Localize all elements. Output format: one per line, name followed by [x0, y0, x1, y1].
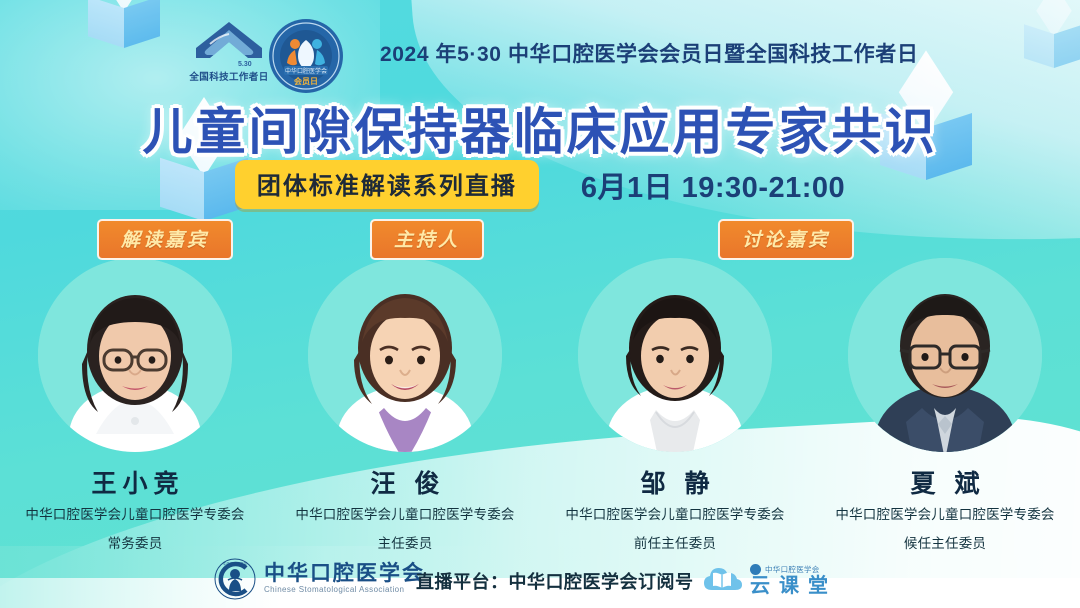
speaker-org: 中华口腔医学会儿童口腔医学专委会: [835, 508, 1054, 522]
speaker-title: 前任主任委员: [634, 532, 716, 552]
speaker-list: 王小竞 中华口腔医学会儿童口腔医学专委会 常务委员: [0, 258, 1080, 552]
speaker-card: 汪 俊 中华口腔医学会儿童口腔医学专委会 主任委员: [270, 258, 540, 552]
series-badge: 团体标准解读系列直播: [235, 160, 539, 209]
svg-text:中华口腔医学会: 中华口腔医学会: [223, 561, 247, 566]
speaker-org: 中华口腔医学会儿童口腔医学专委会: [25, 508, 244, 522]
footer: 中华口腔医学会 中华口腔医学会 Chinese Stomatological A…: [0, 552, 1080, 608]
speaker-title: 主任委员: [378, 532, 433, 552]
role-badge-discussant: 讨论嘉宾: [718, 219, 854, 260]
live-time: 6月1日 19:30-21:00: [581, 164, 845, 206]
speaker-name: 邹 静: [635, 464, 716, 500]
role-badge-host: 主持人: [370, 219, 484, 260]
yun-logo-text: 中华口腔医学会 云课堂: [750, 564, 837, 597]
event-header-title: 2024 年5·30 中华口腔医学会会员日暨全国科技工作者日: [380, 38, 918, 68]
role-badge-group: 解读嘉宾 主持人 讨论嘉宾: [0, 219, 1080, 253]
avatar: [38, 258, 232, 452]
speaker-card: 夏 斌 中华口腔医学会儿童口腔医学专委会 候任主任委员: [810, 258, 1080, 552]
speaker-org: 中华口腔医学会儿童口腔医学专委会: [565, 508, 784, 522]
speaker-name: 夏 斌: [905, 464, 986, 500]
svg-text:全国科技工作者日: 全国科技工作者日: [188, 71, 268, 83]
subtitle-row: 团体标准解读系列直播 6月1日 19:30-21:00: [0, 160, 1080, 209]
csa-logo-text: 中华口腔医学会 Chinese Stomatological Associati…: [264, 563, 425, 595]
speaker-title: 候任主任委员: [904, 532, 986, 552]
csa-emblem-icon: 中华口腔医学会: [214, 558, 256, 600]
page-title: 儿童间隙保持器临床应用专家共识: [0, 92, 1080, 164]
csa-logo: 中华口腔医学会 中华口腔医学会 Chinese Stomatological A…: [214, 558, 425, 600]
live-platform-text: 直播平台：中华口腔医学会订阅号: [416, 568, 694, 594]
csa-name-cn: 中华口腔医学会: [264, 563, 425, 585]
svg-text:会员日: 会员日: [294, 76, 318, 86]
speaker-title: 常务委员: [108, 532, 163, 552]
avatar: [848, 258, 1042, 452]
cloud-book-icon: [700, 558, 744, 602]
csa-name-en: Chinese Stomatological Association: [264, 585, 425, 595]
promo-poster: 5.30 全国科技工作者日 中华口腔医学会 会员日 2024 年5·30 中华口…: [0, 0, 1080, 608]
speaker-org: 中华口腔医学会儿童口腔医学专委会: [295, 508, 514, 522]
yun-classroom-logo: 中华口腔医学会 云课堂: [700, 558, 837, 602]
role-badge-interpreter: 解读嘉宾: [97, 219, 233, 260]
yun-badge-row: 中华口腔医学会: [750, 564, 837, 575]
header: 5.30 全国科技工作者日 中华口腔医学会 会员日 2024 年5·30 中华口…: [0, 8, 1080, 84]
csa-small-dot-icon: [750, 564, 761, 575]
avatar: [308, 258, 502, 452]
member-day-emblem-icon: 中华口腔医学会 会员日: [264, 16, 348, 96]
yun-badge-text: 中华口腔医学会: [765, 564, 820, 575]
avatar: [578, 258, 772, 452]
speaker-card: 邹 静 中华口腔医学会儿童口腔医学专委会 前任主任委员: [540, 258, 810, 552]
national-science-worker-day-logo-icon: 5.30 全国科技工作者日: [186, 18, 272, 84]
svg-text:中华口腔医学会: 中华口腔医学会: [285, 67, 327, 75]
svg-text:5.30: 5.30: [238, 61, 252, 68]
speaker-card: 王小竞 中华口腔医学会儿童口腔医学专委会 常务委员: [0, 258, 270, 552]
yun-name-cn: 云课堂: [750, 575, 837, 597]
speaker-name: 王小竞: [85, 464, 184, 500]
speaker-name: 汪 俊: [365, 464, 446, 500]
